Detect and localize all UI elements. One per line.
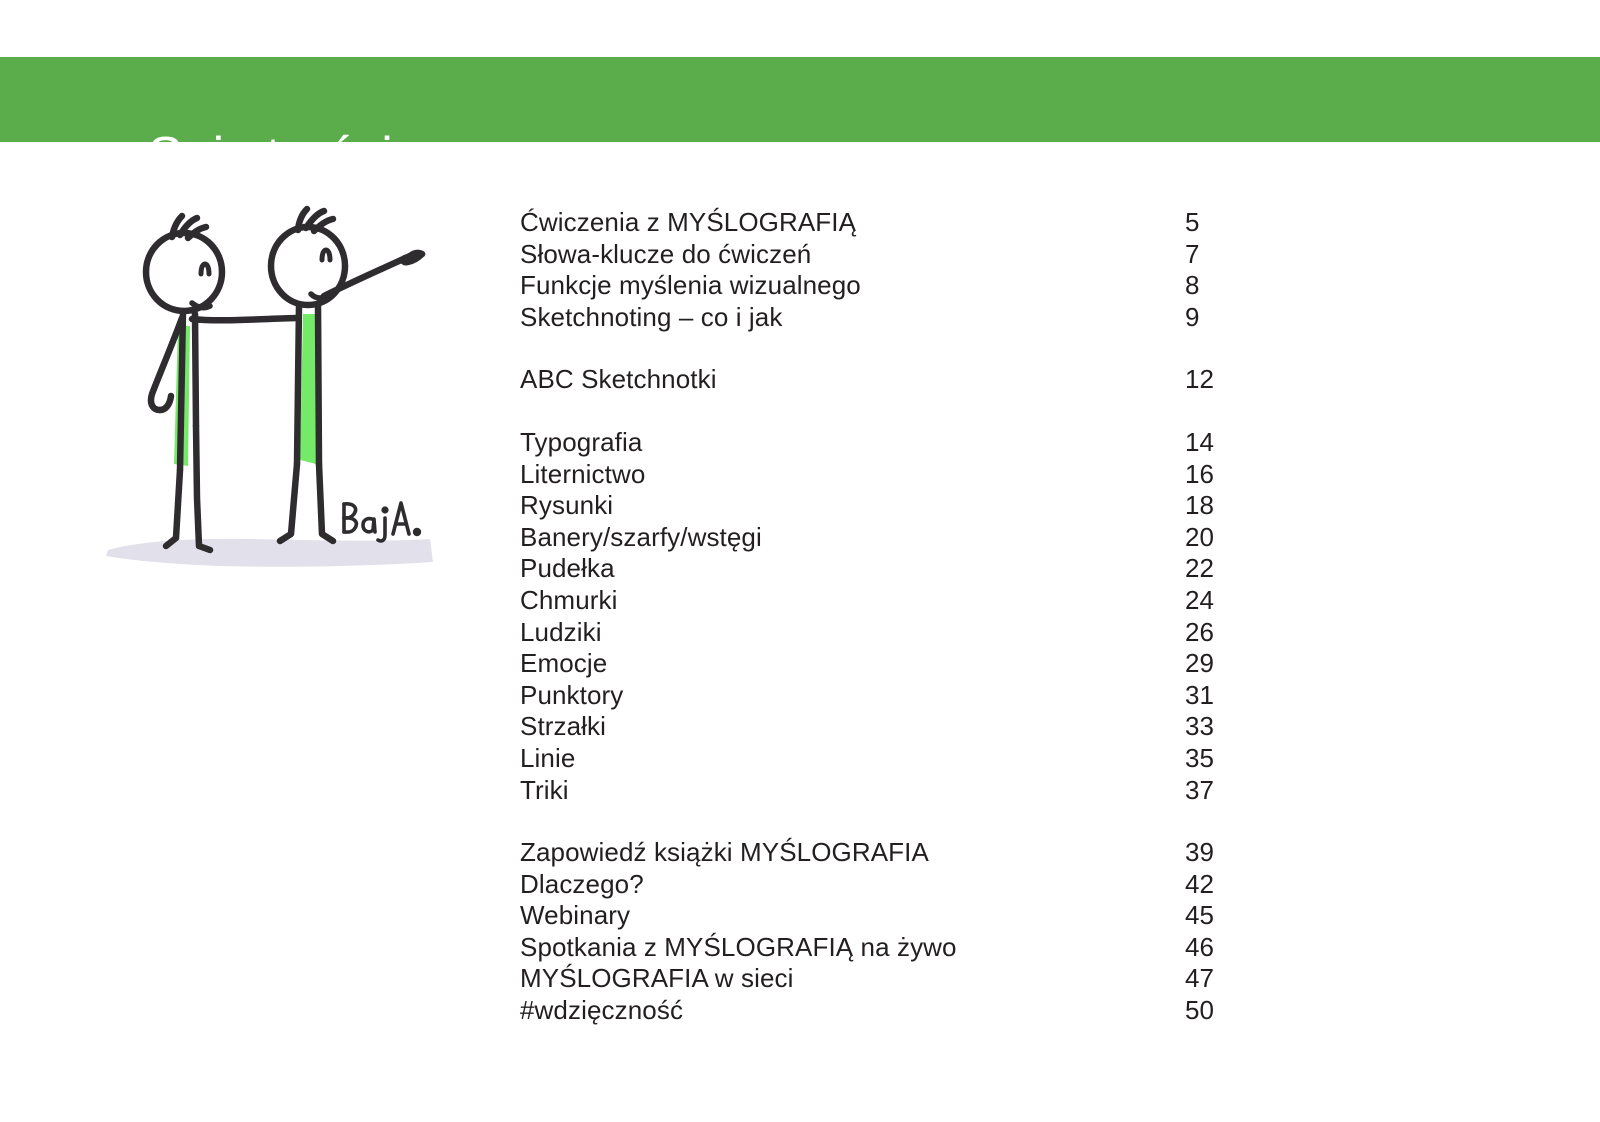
toc-entry-label: ABC Sketchnotki xyxy=(520,364,717,396)
toc-entry[interactable]: Rysunki18 xyxy=(520,490,1320,522)
toc-entry-label: Webinary xyxy=(520,900,630,932)
toc-entry-label: Typografia xyxy=(520,427,642,459)
toc-entry-label: Strzałki xyxy=(520,711,606,743)
toc-entry-page-number: 24 xyxy=(1185,585,1214,617)
toc-page: Spis treści xyxy=(0,0,1600,1122)
toc-block: ABC Sketchnotki12 xyxy=(520,364,1320,396)
toc-entry[interactable]: Emocje29 xyxy=(520,648,1320,680)
toc-entry-label: Spotkania z MYŚLOGRAFIĄ na żywo xyxy=(520,932,957,964)
toc-entry[interactable]: Spotkania z MYŚLOGRAFIĄ na żywo46 xyxy=(520,932,1320,964)
toc-entry-label: Słowa-klucze do ćwiczeń xyxy=(520,239,811,271)
toc-entry[interactable]: Chmurki24 xyxy=(520,585,1320,617)
toc-entry[interactable]: Liternictwo16 xyxy=(520,459,1320,491)
toc-entry[interactable]: Strzałki33 xyxy=(520,711,1320,743)
toc-entry-label: MYŚLOGRAFIA w sieci xyxy=(520,963,794,995)
toc-entry-label: Funkcje myślenia wizualnego xyxy=(520,270,861,302)
toc-entry[interactable]: Typografia14 xyxy=(520,427,1320,459)
toc-entry[interactable]: Ludziki26 xyxy=(520,617,1320,649)
toc-entry[interactable]: Linie35 xyxy=(520,743,1320,775)
artist-signature xyxy=(344,503,419,541)
toc-entry-page-number: 31 xyxy=(1185,680,1214,712)
toc-entry-page-number: 42 xyxy=(1185,869,1214,901)
ground-shadow-shape xyxy=(106,539,433,567)
right-stick-figure xyxy=(271,209,422,541)
toc-block: Zapowiedź książki MYŚLOGRAFIA39Dlaczego?… xyxy=(520,837,1320,1027)
toc-entry-page-number: 20 xyxy=(1185,522,1214,554)
toc-entry-page-number: 22 xyxy=(1185,553,1214,585)
toc-entry-page-number: 29 xyxy=(1185,648,1214,680)
toc-entry[interactable]: Ćwiczenia z MYŚLOGRAFIĄ5 xyxy=(520,207,1320,239)
toc-entry-page-number: 46 xyxy=(1185,932,1214,964)
toc-entry[interactable]: MYŚLOGRAFIA w sieci47 xyxy=(520,963,1320,995)
toc-entry-page-number: 9 xyxy=(1185,302,1200,334)
toc-entry-page-number: 50 xyxy=(1185,995,1214,1027)
header-band: Spis treści xyxy=(0,57,1600,142)
toc-entry-label: Banery/szarfy/wstęgi xyxy=(520,522,762,554)
toc-entry-label: Linie xyxy=(520,743,575,775)
toc-entry-page-number: 7 xyxy=(1185,239,1200,271)
toc-entry[interactable]: Słowa-klucze do ćwiczeń7 xyxy=(520,239,1320,271)
toc-entry[interactable]: Sketchnoting – co i jak9 xyxy=(520,302,1320,334)
toc-entry[interactable]: Punktory31 xyxy=(520,680,1320,712)
toc-entry-page-number: 8 xyxy=(1185,270,1200,302)
toc-entry-label: #wdzięczność xyxy=(520,995,683,1027)
table-of-contents: Ćwiczenia z MYŚLOGRAFIĄ5Słowa-klucze do … xyxy=(520,207,1320,1027)
toc-entry-label: Triki xyxy=(520,775,569,807)
toc-block: Typografia14Liternictwo16Rysunki18Banery… xyxy=(520,427,1320,806)
toc-entry-label: Zapowiedź książki MYŚLOGRAFIA xyxy=(520,837,929,869)
toc-entry-label: Sketchnoting – co i jak xyxy=(520,302,782,334)
toc-entry-page-number: 33 xyxy=(1185,711,1214,743)
toc-entry-page-number: 45 xyxy=(1185,900,1214,932)
toc-entry-page-number: 12 xyxy=(1185,364,1214,396)
toc-entry-label: Emocje xyxy=(520,648,607,680)
toc-block: Ćwiczenia z MYŚLOGRAFIĄ5Słowa-klucze do … xyxy=(520,207,1320,333)
toc-entry-page-number: 35 xyxy=(1185,743,1214,775)
toc-entry-page-number: 18 xyxy=(1185,490,1214,522)
toc-entry[interactable]: #wdzięczność50 xyxy=(520,995,1320,1027)
toc-entry-label: Pudełka xyxy=(520,553,615,585)
toc-entry[interactable]: Funkcje myślenia wizualnego8 xyxy=(520,270,1320,302)
toc-entry[interactable]: Dlaczego?42 xyxy=(520,869,1320,901)
toc-entry[interactable]: Webinary45 xyxy=(520,900,1320,932)
toc-entry-page-number: 26 xyxy=(1185,617,1214,649)
toc-entry[interactable]: Triki37 xyxy=(520,775,1320,807)
toc-entry-label: Ludziki xyxy=(520,617,602,649)
toc-entry-label: Ćwiczenia z MYŚLOGRAFIĄ xyxy=(520,207,856,239)
toc-entry[interactable]: Pudełka22 xyxy=(520,553,1320,585)
toc-entry[interactable]: Zapowiedź książki MYŚLOGRAFIA39 xyxy=(520,837,1320,869)
toc-entry-label: Rysunki xyxy=(520,490,613,522)
toc-entry-page-number: 5 xyxy=(1185,207,1200,239)
toc-entry-page-number: 14 xyxy=(1185,427,1214,459)
toc-entry-label: Dlaczego? xyxy=(520,869,644,901)
toc-entry-label: Chmurki xyxy=(520,585,618,617)
toc-entry-label: Punktory xyxy=(520,680,623,712)
toc-entry[interactable]: Banery/szarfy/wstęgi20 xyxy=(520,522,1320,554)
toc-entry-label: Liternictwo xyxy=(520,459,645,491)
toc-entry-page-number: 39 xyxy=(1185,837,1214,869)
toc-entry[interactable]: ABC Sketchnotki12 xyxy=(520,364,1320,396)
toc-entry-page-number: 37 xyxy=(1185,775,1214,807)
toc-entry-page-number: 47 xyxy=(1185,963,1214,995)
toc-entry-page-number: 16 xyxy=(1185,459,1214,491)
stick-figures-illustration xyxy=(100,198,450,570)
page-title: Spis treści xyxy=(148,121,393,191)
